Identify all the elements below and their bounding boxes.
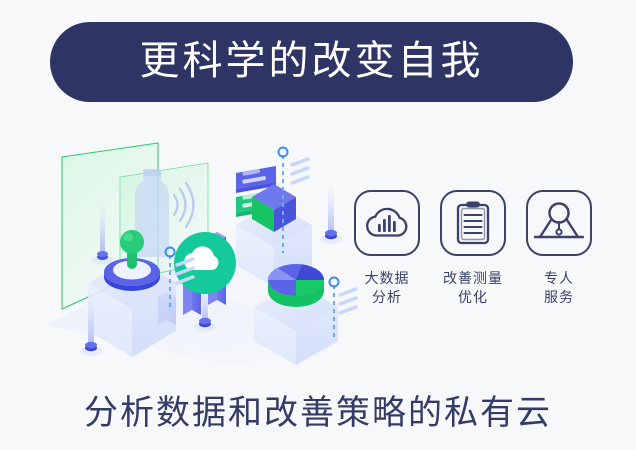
feature-label: 大数据 分析 [365,269,410,307]
feature-item-measurement[interactable]: 改善测量 优化 [438,190,508,335]
feature-item-big-data[interactable]: 大数据 分析 [352,190,422,335]
dashed-pin-line [320,187,342,244]
feature-label: 专人 服务 [544,269,574,307]
cloud-bar-chart-icon [354,190,420,256]
feature-label-line1: 大数据 [365,269,410,288]
title-banner: 更科学的改变自我 [50,22,573,102]
feature-label-line2: 优化 [443,288,503,307]
clipboard-icon [440,190,506,256]
page-title: 更科学的改变自我 [140,41,484,81]
feature-label-line1: 专人 [544,269,574,288]
footer-tagline: 分析数据和改善策略的私有云 [0,385,636,434]
poster-canvas: 更科学的改变自我 [0,0,636,450]
feature-item-service[interactable]: 专人 服务 [524,190,594,335]
person-service-icon [526,190,592,256]
illustration [40,125,360,365]
feature-label-line2: 服务 [544,288,574,307]
pie-chart-3d [268,264,324,307]
feature-label-line2: 分析 [365,288,410,307]
feature-list: 大数据 分析 改善测量 [352,190,594,335]
feature-label: 改善测量 优化 [443,269,503,307]
feature-label-line1: 改善测量 [443,269,503,288]
